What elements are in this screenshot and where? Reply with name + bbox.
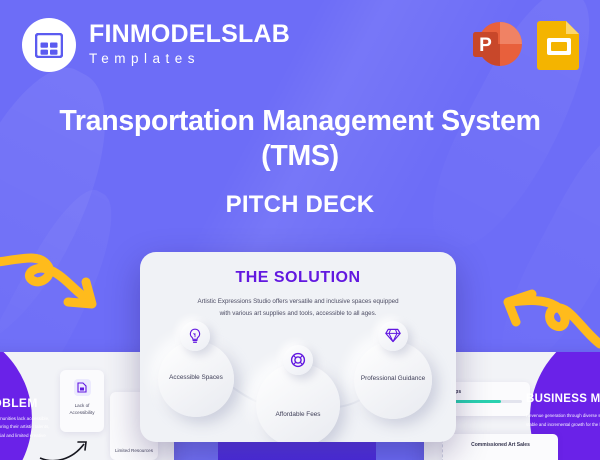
- gem-circle-icon: [283, 345, 313, 375]
- logo-circle: [22, 18, 76, 72]
- brand-logo[interactable]: FINMODELSLAB Templates: [22, 18, 290, 72]
- solution-item-2-label: Affordable Fees: [276, 410, 321, 421]
- solution-item-1[interactable]: Accessible Spaces: [158, 341, 234, 417]
- business-heading: BUSINESS MODEL: [526, 392, 600, 406]
- powerpoint-icon[interactable]: P: [470, 18, 522, 70]
- solution-items: Accessible Spaces Affordable Fees: [140, 335, 456, 442]
- solution-item-3-label: Professional Guidance: [361, 374, 425, 385]
- slide-canvas: FINMODELSLAB Templates P Transportati: [0, 0, 600, 460]
- solution-item-3[interactable]: Professional Guidance: [354, 341, 432, 419]
- page-title: Transportation Management System (TMS): [0, 104, 600, 175]
- brand-name: FINMODELSLAB: [89, 22, 290, 47]
- page-subtitle: PITCH DECK: [0, 191, 600, 219]
- problem-card-2-label: Limited Resources: [112, 448, 156, 455]
- problem-heading: THE PROBLEM: [0, 396, 58, 410]
- brand-subtitle: Templates: [89, 52, 290, 66]
- commissioned-art-label: Commissioned Art Sales: [443, 434, 558, 448]
- title-block: Transportation Management System (TMS) P…: [0, 104, 600, 219]
- solution-description: Artistic Expressions Studio offers versa…: [192, 296, 404, 321]
- curved-arrow-right-icon: [0, 252, 100, 327]
- document-icon: [74, 379, 91, 396]
- google-slides-icon[interactable]: [536, 18, 582, 70]
- business-description: Revenue generation through diverse strea…: [526, 412, 600, 429]
- solution-item-1-label: Accessible Spaces: [169, 373, 223, 384]
- grid-logo-icon: [35, 33, 63, 58]
- problem-card-1-label: Lack of Accessibility: [60, 403, 104, 417]
- solution-heading: THE SOLUTION: [140, 269, 456, 287]
- lightbulb-icon: [180, 321, 210, 351]
- diamond-icon: [378, 321, 408, 351]
- problem-card-1: Lack of Accessibility: [60, 370, 104, 432]
- commissioned-art-card: Commissioned Art Sales: [442, 434, 558, 460]
- black-arrow-icon: [38, 438, 98, 460]
- business-text: BUSINESS MODEL Revenue generation throug…: [526, 392, 600, 429]
- format-icons: P: [470, 18, 582, 70]
- brand-text: FINMODELSLAB Templates: [89, 22, 290, 68]
- solution-slide-card[interactable]: THE SOLUTION Artistic Expressions Studio…: [140, 252, 456, 442]
- svg-text:P: P: [479, 35, 492, 56]
